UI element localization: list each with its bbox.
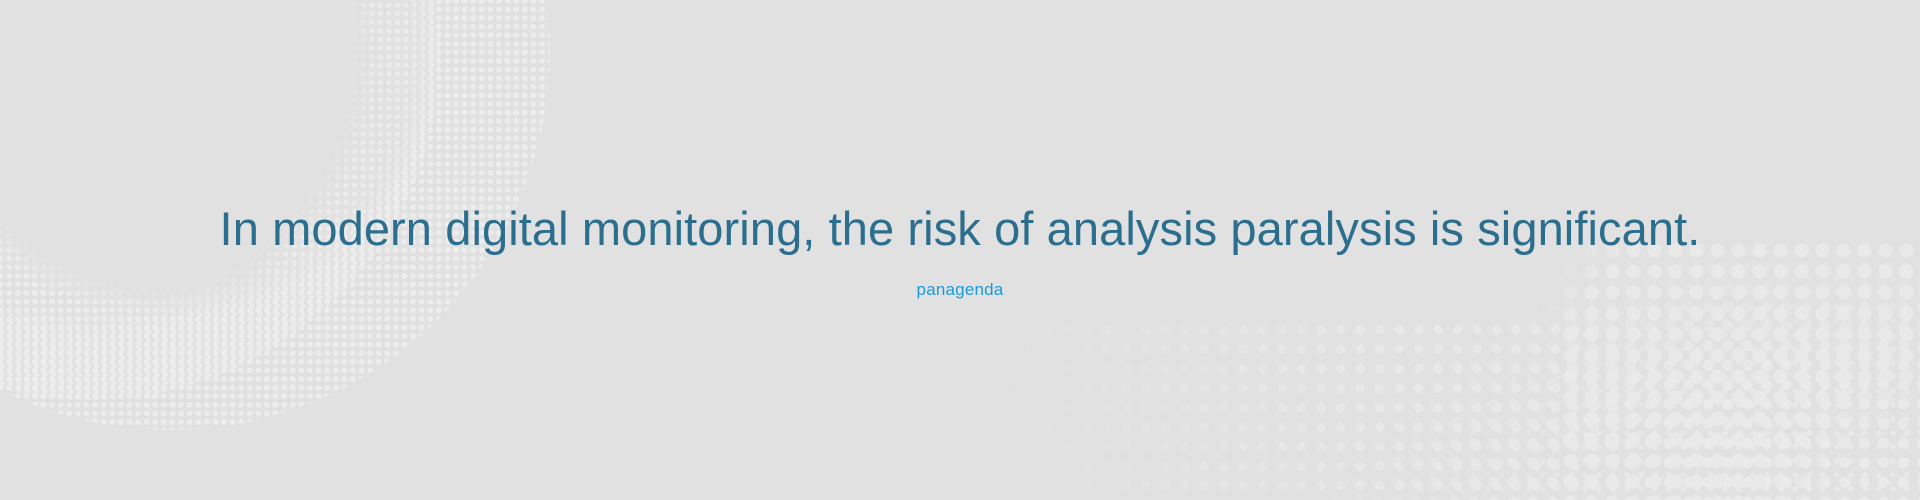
quote-headline: In modern digital monitoring, the risk o…: [220, 200, 1701, 257]
banner-content: In modern digital monitoring, the risk o…: [0, 0, 1920, 500]
brand-attribution: panagenda: [917, 280, 1004, 300]
quote-banner: In modern digital monitoring, the risk o…: [0, 0, 1920, 500]
